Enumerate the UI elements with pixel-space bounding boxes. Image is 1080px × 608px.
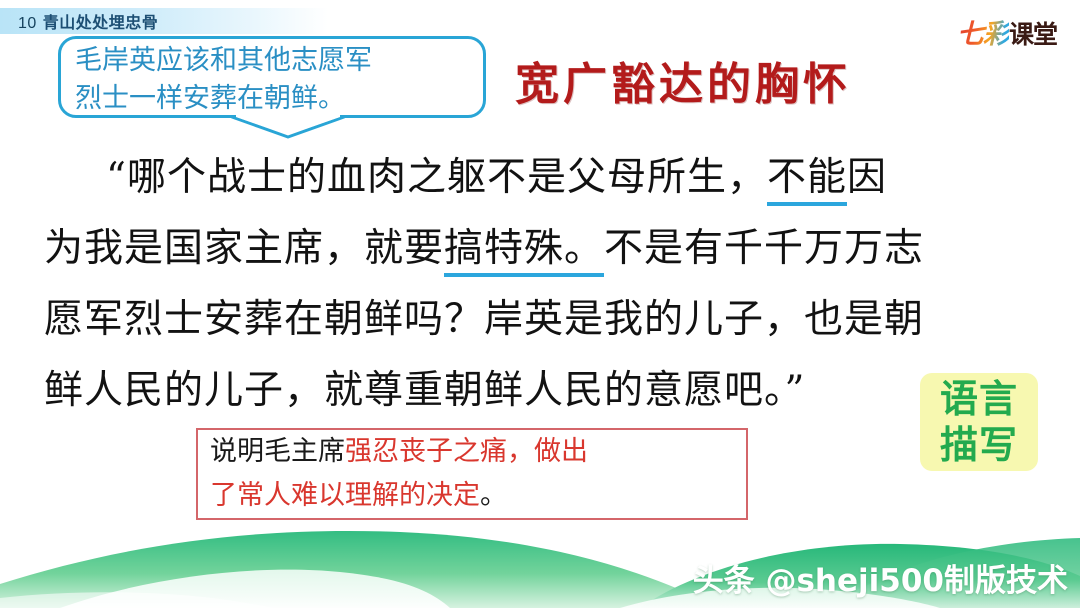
passage-segment: 鲜人民的儿子，就尊重朝鲜人民的意愿吧。” [44,368,805,413]
speech-bubble-tail-icon [230,115,350,141]
speech-bubble: 毛岸英应该和其他志愿军 烈士一样安葬在朝鲜。 [58,36,486,118]
passage-segment: 为我是国家主席，就要 [44,226,444,271]
page-title: 10青山处处埋忠骨 [18,9,158,33]
logo-colorful-part: 七彩 [957,19,1009,50]
annotation-badge-label: 语言 描写 [920,376,1038,468]
lesson-number: 10 [18,15,37,32]
lesson-title: 青山处处埋忠骨 [43,15,159,32]
passage-line: “哪个战士的血肉之躯不是父母所生，不能因 [44,142,1004,213]
passage-line: 鲜人民的儿子，就尊重朝鲜人民的意愿吧。” [44,355,1004,426]
passage-line: 为我是国家主席，就要搞特殊。不是有千千万万志 [44,213,1004,284]
passage-text: “哪个战士的血肉之躯不是父母所生，不能因为我是国家主席，就要搞特殊。不是有千千万… [44,142,1004,426]
passage-segment: 不是有千千万万志 [604,226,924,271]
logo-text: 七彩课堂 [957,21,1057,48]
analysis-line: 说明毛主席强忍丧子之痛，做出 [210,430,744,474]
watermark-text: 头条 @sheji500制版技术 [693,555,1068,600]
passage-underlined-phrase: 搞特殊。 [444,226,604,277]
passage-segment: “哪个战士的血肉之躯不是父母所生， [106,155,767,200]
analysis-segment: 说明毛主席 [210,436,345,467]
passage-line: 愿军烈士安葬在朝鲜吗？岸英是我的儿子，也是朝 [44,284,1004,355]
speech-bubble-text: 毛岸英应该和其他志愿军 烈士一样安葬在朝鲜。 [75,42,479,118]
analysis-highlight: 强忍丧子之痛，做出 [345,436,588,467]
brand-logo: 七彩课堂 [948,14,1066,54]
logo-dark-part: 课堂 [1009,20,1057,49]
annotation-badge: 语言 描写 [920,373,1038,471]
passage-segment: 因 [847,155,887,200]
passage-underlined-phrase: 不能 [767,155,847,206]
section-heading: 宽广豁达的胸怀 [515,48,851,112]
slide-canvas: 10青山处处埋忠骨 七彩课堂 毛岸英应该和其他志愿军 烈士一样安葬在朝鲜。 宽广… [0,0,1080,608]
passage-segment: 愿军烈士安葬在朝鲜吗？岸英是我的儿子，也是朝 [44,297,924,342]
